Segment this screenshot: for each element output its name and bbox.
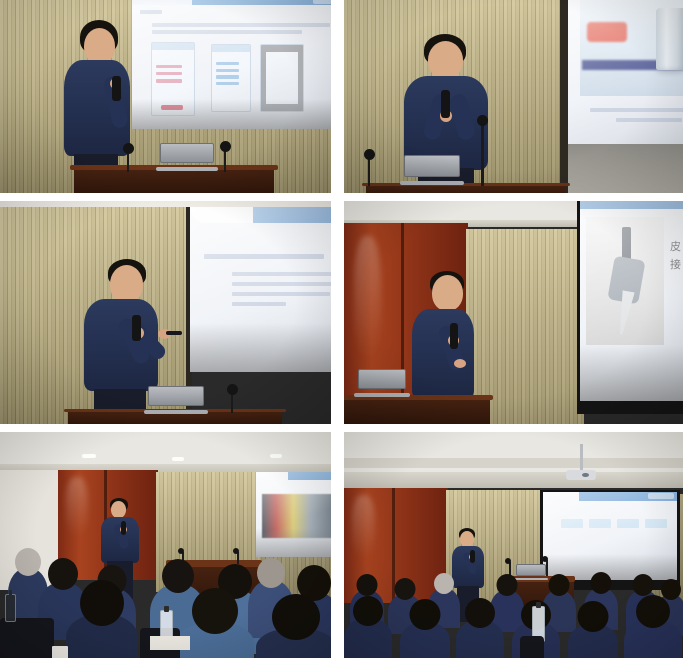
microphone [112,76,121,101]
projection-screen [568,0,683,144]
mic-head [505,558,511,564]
audience-head [162,559,194,593]
photo-cell-2[interactable] [344,0,683,193]
laptop [358,369,406,397]
podium [344,395,490,424]
speaker-head [432,275,463,311]
laptop-base [354,393,410,397]
audience-head [549,574,570,596]
laptop [160,143,214,171]
photo-cell-1[interactable] [0,0,331,193]
panel-highlight [66,477,88,538]
microphone [450,323,458,349]
laptop-base [144,410,209,414]
mic-head [477,115,488,126]
screen-lower-shadow [568,144,683,193]
audience-head [578,601,609,632]
photo-collage: 皮 接 [0,0,683,658]
speaker-torso [412,309,474,399]
mic-stand [481,122,484,186]
audience-head [395,578,416,600]
water-bottle [5,594,16,622]
chair-back [0,618,54,658]
speaker-head [428,41,463,79]
screen-shadow [132,99,331,129]
laptop [148,386,204,414]
audience-member [256,628,331,658]
projection-screen: 皮 接 [580,201,683,401]
audience-head [48,558,78,590]
mic-head [233,548,239,554]
mic-head [123,143,134,154]
mic-head [364,149,375,160]
microphone [470,550,475,563]
projector [566,470,596,480]
audience-member [400,622,450,658]
microphone [132,315,141,341]
audience-head [80,580,124,626]
audience-head [434,573,454,594]
chair-back [520,636,544,658]
mic-stand [127,150,129,172]
audience-member [568,624,618,658]
audience-head [257,558,285,588]
speaker-hand [454,359,466,368]
ceiling-light [172,457,184,461]
audience-head [497,574,518,596]
audience-head [353,596,383,626]
audience-head [636,595,670,628]
mic-stand [231,391,233,413]
panel-highlight [354,236,381,359]
laptop-lid [516,564,546,576]
presenter-remote [166,331,182,335]
screen-shadow [580,345,683,401]
podium [366,183,566,193]
laptop-base [514,578,549,580]
mic-stand [224,148,226,172]
mic-head [542,556,548,562]
audience-head [591,572,612,594]
mic-head [227,384,238,395]
audience-member [66,614,138,658]
audience-member [624,620,682,658]
screen-shadow [256,528,331,557]
table-surface [150,636,190,650]
laptop-lid [148,386,204,406]
wall-shadow [560,0,568,193]
mic-head [178,548,184,554]
audience-member [344,618,392,658]
panel-highlight [352,495,375,558]
mic-head [220,141,231,152]
audience-head [661,579,681,600]
photo-cell-5[interactable] [0,432,331,658]
speaker-head [460,531,474,547]
projection-glare [568,0,683,144]
mic-stand [237,552,239,564]
speaker-head [84,28,115,64]
speaker-head [110,265,143,303]
audience-head [272,594,320,640]
ceiling-light [270,454,282,458]
projection-screen [543,492,677,580]
projection-screen [132,0,331,129]
laptop-base [400,181,465,185]
audience-head [633,574,654,596]
laptop-lid [358,369,406,389]
microphone [121,521,126,535]
audience-head [357,574,378,596]
projection-screen [256,472,331,557]
laptop-lid [404,155,460,177]
audience-head [465,598,495,628]
ceiling-light [82,454,96,458]
laptop [404,155,460,185]
photo-cell-6[interactable] [344,432,683,658]
photo-cell-4[interactable]: 皮 接 [344,201,683,424]
photo-cell-3[interactable] [0,201,331,424]
projection-screen [190,207,331,372]
mic-stand [546,560,548,576]
audience-head [192,588,238,634]
laptop [516,564,546,580]
audience-head [15,548,41,576]
laptop-lid [160,143,214,163]
ceiling-beam [344,458,683,468]
projector-lens [582,473,589,477]
mic-stand [368,156,370,186]
paper-cup [52,646,68,658]
screen-shadow [190,323,331,373]
microphone [441,90,450,118]
audience-member [456,620,504,658]
podium-top [362,183,570,186]
projector-mount [580,444,583,470]
audience-head [410,599,441,630]
laptop-base [156,167,219,171]
speaker-head [111,501,126,518]
